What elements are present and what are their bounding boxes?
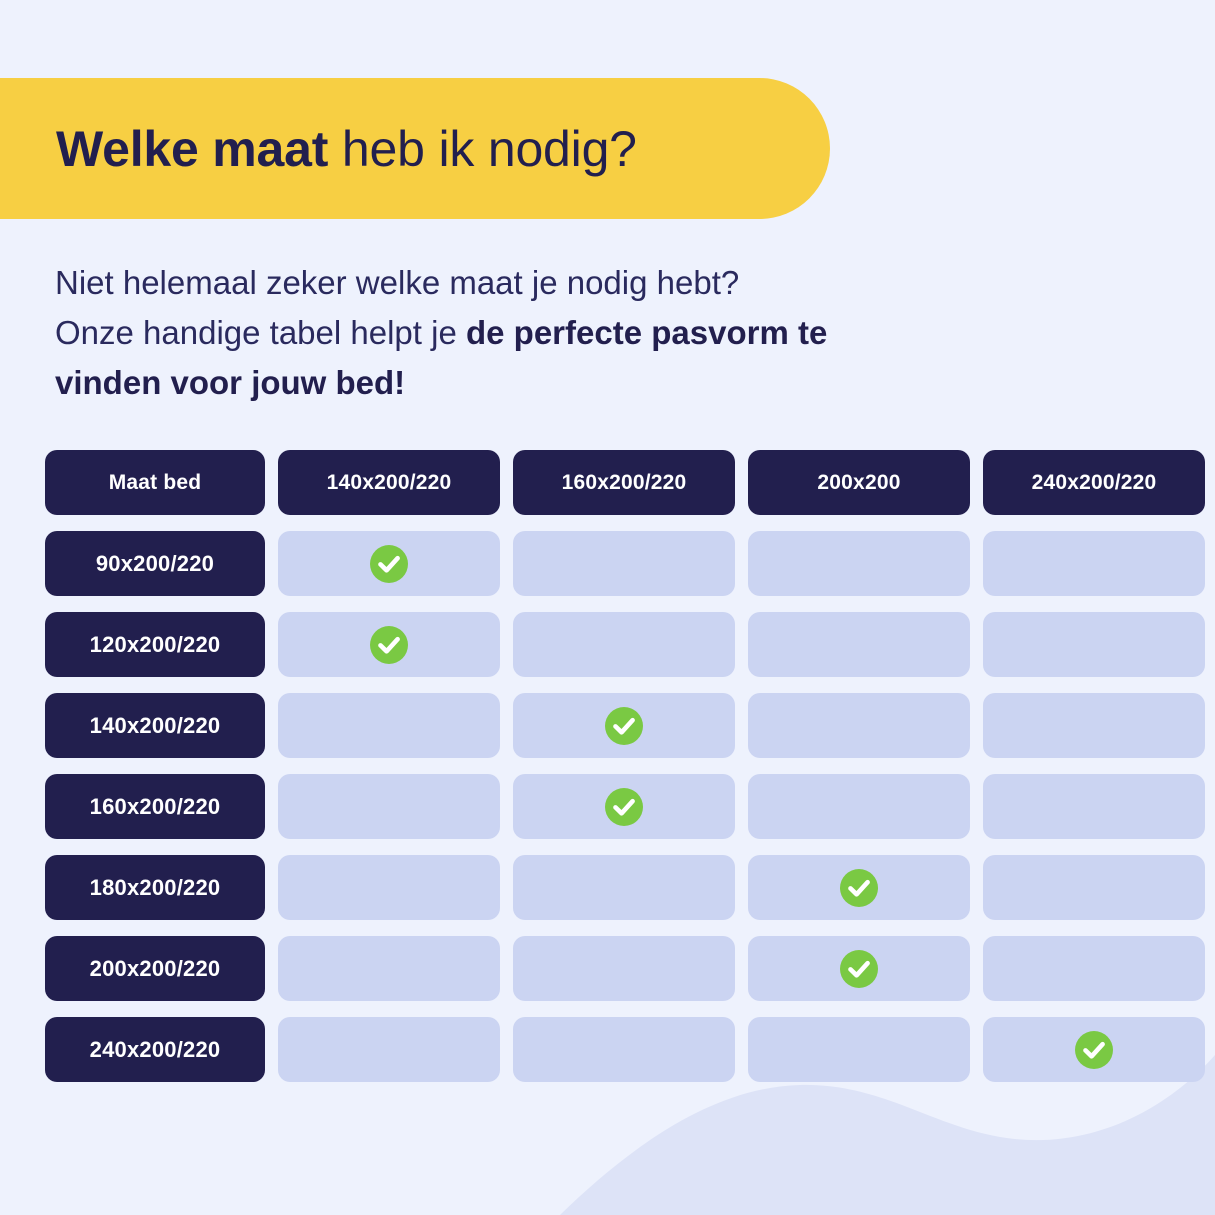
row-label-120x200-220: 120x200/220 xyxy=(45,612,265,677)
page-title-bold: Welke maat xyxy=(56,121,328,177)
table-cell-r7-c2 xyxy=(513,1017,735,1082)
table-header-label: 240x200/220 xyxy=(1032,471,1157,495)
row-label-text: 200x200/220 xyxy=(90,956,221,982)
heading-banner: Welke maat heb ik nodig? xyxy=(0,78,830,219)
table-header-240x200-220: 240x200/220 xyxy=(983,450,1205,515)
table-cell-r5-c4 xyxy=(983,855,1205,920)
table-cell-r7-c4 xyxy=(983,1017,1205,1082)
table-cell-r6-c4 xyxy=(983,936,1205,1001)
intro-line-1: Niet helemaal zeker welke maat je nodig … xyxy=(55,264,739,301)
table-cell-r3-c1 xyxy=(278,693,500,758)
table-row: 160x200/220 xyxy=(45,774,1170,839)
table-cell-r1-c4 xyxy=(983,531,1205,596)
table-row: 120x200/220 xyxy=(45,612,1170,677)
row-label-200x200-220: 200x200/220 xyxy=(45,936,265,1001)
table-cell-r2-c1 xyxy=(278,612,500,677)
row-label-140x200-220: 140x200/220 xyxy=(45,693,265,758)
table-header-200x200: 200x200 xyxy=(748,450,970,515)
table-header-160x200-220: 160x200/220 xyxy=(513,450,735,515)
table-cell-r5-c3 xyxy=(748,855,970,920)
table-cell-r4-c3 xyxy=(748,774,970,839)
check-circle-icon xyxy=(840,950,878,988)
table-cell-r5-c1 xyxy=(278,855,500,920)
check-circle-icon xyxy=(1075,1031,1113,1069)
intro-paragraph: Niet helemaal zeker welke maat je nodig … xyxy=(55,258,1015,408)
table-row: 240x200/220 xyxy=(45,1017,1170,1082)
table-cell-r2-c2 xyxy=(513,612,735,677)
row-label-text: 140x200/220 xyxy=(90,713,221,739)
table-cell-r4-c2 xyxy=(513,774,735,839)
intro-line-3-bold: vinden voor jouw bed! xyxy=(55,364,405,401)
check-circle-icon xyxy=(605,788,643,826)
row-label-text: 240x200/220 xyxy=(90,1037,221,1063)
table-row: 140x200/220 xyxy=(45,693,1170,758)
check-circle-icon xyxy=(605,707,643,745)
row-label-90x200-220: 90x200/220 xyxy=(45,531,265,596)
table-cell-r4-c4 xyxy=(983,774,1205,839)
table-row: 90x200/220 xyxy=(45,531,1170,596)
row-label-text: 160x200/220 xyxy=(90,794,221,820)
table-header-140x200-220: 140x200/220 xyxy=(278,450,500,515)
row-label-240x200-220: 240x200/220 xyxy=(45,1017,265,1082)
check-circle-icon xyxy=(840,869,878,907)
check-circle-icon xyxy=(370,545,408,583)
table-row: 180x200/220 xyxy=(45,855,1170,920)
table-cell-r1-c3 xyxy=(748,531,970,596)
table-cell-r6-c1 xyxy=(278,936,500,1001)
table-header-label: 200x200 xyxy=(817,471,900,495)
table-cell-r1-c2 xyxy=(513,531,735,596)
table-cell-r1-c1 xyxy=(278,531,500,596)
intro-line-2-normal: Onze handige tabel helpt je xyxy=(55,314,466,351)
size-comparison-table: Maat bed140x200/220160x200/220200x200240… xyxy=(45,450,1170,1082)
page-title: Welke maat heb ik nodig? xyxy=(56,124,637,174)
row-label-160x200-220: 160x200/220 xyxy=(45,774,265,839)
page-title-rest: heb ik nodig? xyxy=(328,121,637,177)
intro-line-2-bold: de perfecte pasvorm te xyxy=(466,314,827,351)
table-cell-r3-c2 xyxy=(513,693,735,758)
row-label-180x200-220: 180x200/220 xyxy=(45,855,265,920)
table-cell-r6-c3 xyxy=(748,936,970,1001)
table-header-row: Maat bed140x200/220160x200/220200x200240… xyxy=(45,450,1170,515)
table-cell-r5-c2 xyxy=(513,855,735,920)
table-header-label: 140x200/220 xyxy=(327,471,452,495)
row-label-text: 180x200/220 xyxy=(90,875,221,901)
table-cell-r3-c3 xyxy=(748,693,970,758)
table-cell-r7-c1 xyxy=(278,1017,500,1082)
check-circle-icon xyxy=(370,626,408,664)
table-cell-r2-c3 xyxy=(748,612,970,677)
table-header-label: 160x200/220 xyxy=(562,471,687,495)
table-cell-r3-c4 xyxy=(983,693,1205,758)
table-cell-r2-c4 xyxy=(983,612,1205,677)
row-label-text: 90x200/220 xyxy=(96,551,214,577)
table-header-label: Maat bed xyxy=(109,471,202,495)
row-label-text: 120x200/220 xyxy=(90,632,221,658)
table-cell-r7-c3 xyxy=(748,1017,970,1082)
table-row: 200x200/220 xyxy=(45,936,1170,1001)
table-header-corner: Maat bed xyxy=(45,450,265,515)
table-cell-r4-c1 xyxy=(278,774,500,839)
table-cell-r6-c2 xyxy=(513,936,735,1001)
